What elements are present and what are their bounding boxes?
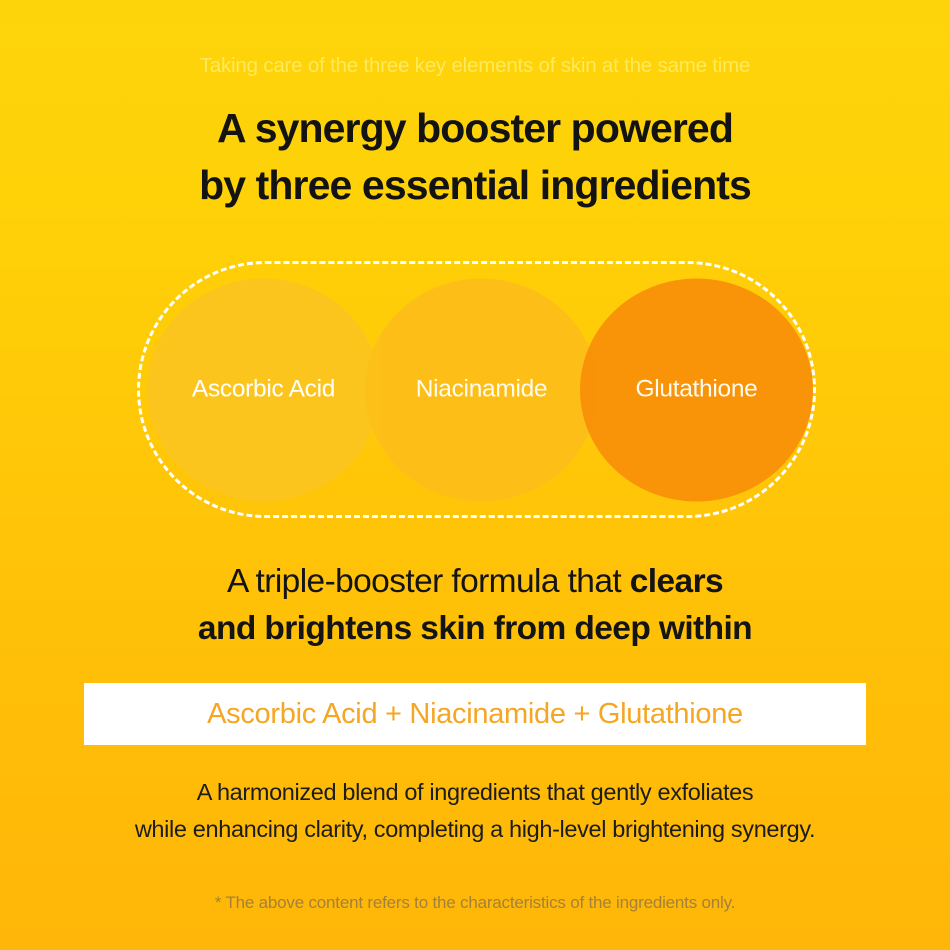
body-copy-line-2: while enhancing clarity, completing a hi… xyxy=(0,811,950,848)
subheading-bold-text: clears xyxy=(630,563,723,600)
venn-circle-ascorbic-acid: Ascorbic Acid xyxy=(147,278,380,501)
eyebrow-text: Taking care of the three key elements of… xyxy=(0,54,950,78)
venn-circle-label: Ascorbic Acid xyxy=(192,376,335,404)
venn-diagram: Ascorbic Acid Niacinamide Glutathione xyxy=(137,261,816,518)
body-copy-line-1: A harmonized blend of ingredients that g… xyxy=(0,774,950,811)
headline-line-1: A synergy booster powered xyxy=(0,100,950,157)
subheading-bold-text: and brightens skin from deep within xyxy=(198,610,752,647)
page-title: A synergy booster powered by three essen… xyxy=(0,100,950,214)
venn-circle-niacinamide: Niacinamide xyxy=(365,278,598,501)
headline-line-2: by three essential ingredients xyxy=(0,157,950,214)
footnote-text: * The above content refers to the charac… xyxy=(0,893,950,913)
venn-circle-label: Glutathione xyxy=(635,376,757,404)
ingredient-banner-text: Ascorbic Acid + Niacinamide + Glutathion… xyxy=(207,698,743,731)
subheading-normal-text: A triple-booster formula that xyxy=(227,563,630,600)
subheading-line-1: A triple-booster formula that clears xyxy=(0,558,950,605)
body-copy: A harmonized blend of ingredients that g… xyxy=(0,774,950,848)
venn-circle-glutathione: Glutathione xyxy=(580,278,813,501)
subheading-line-2: and brightens skin from deep within xyxy=(0,605,950,652)
venn-circle-label: Niacinamide xyxy=(416,376,548,404)
subheading: A triple-booster formula that clears and… xyxy=(0,558,950,652)
ingredient-banner: Ascorbic Acid + Niacinamide + Glutathion… xyxy=(84,683,866,745)
infographic-page: Taking care of the three key elements of… xyxy=(0,0,950,950)
